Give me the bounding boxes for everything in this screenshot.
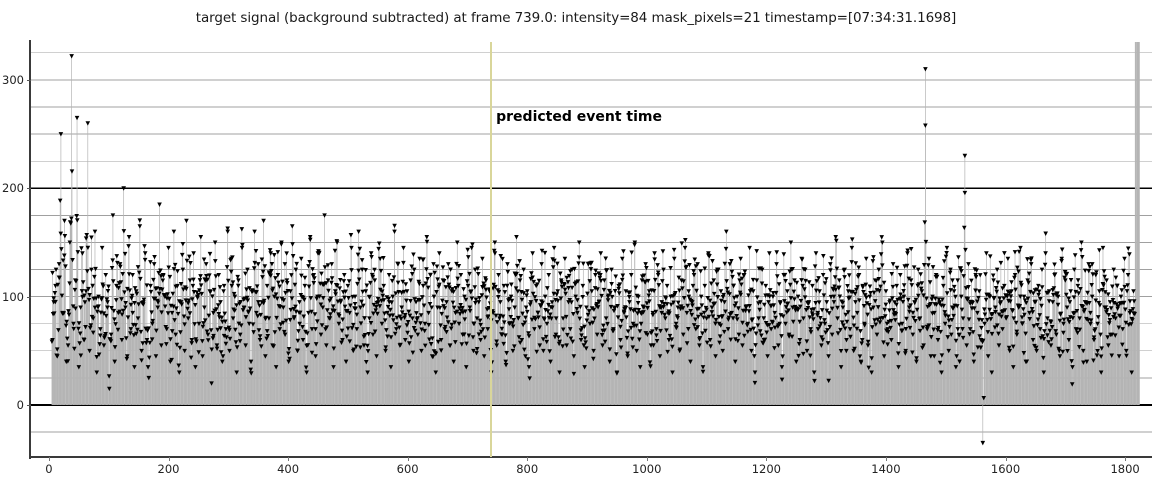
y-tick-label: 300 [2, 73, 24, 87]
x-tick-mark [49, 457, 50, 461]
predicted-event-time-label: predicted event time [496, 109, 662, 125]
x-tick-mark [886, 457, 887, 461]
x-tick-label: 400 [277, 462, 299, 476]
chart-title: target signal (background subtracted) at… [0, 10, 1152, 26]
y-tick-mark [27, 405, 31, 406]
chart-root: target signal (background subtracted) at… [0, 0, 1152, 496]
x-tick-mark [1125, 457, 1126, 461]
x-tick-label: 1600 [991, 462, 1020, 476]
x-tick-label: 0 [45, 462, 52, 476]
x-tick-label: 200 [158, 462, 180, 476]
x-tick-label: 1400 [871, 462, 900, 476]
x-tick-mark [647, 457, 648, 461]
x-tick-label: 800 [516, 462, 538, 476]
x-axis-spine [29, 456, 1152, 458]
predicted-event-time-line [490, 42, 492, 457]
x-tick-mark [169, 457, 170, 461]
x-tick-mark [527, 457, 528, 461]
x-tick-mark [766, 457, 767, 461]
plot-area [31, 42, 1152, 457]
y-tick-mark [27, 80, 31, 81]
x-tick-label: 1200 [752, 462, 781, 476]
x-tick-mark [1006, 457, 1007, 461]
x-tick-mark [408, 457, 409, 461]
data-markers-layer [31, 42, 1152, 457]
y-tick-mark [27, 188, 31, 189]
x-tick-mark [288, 457, 289, 461]
y-tick-mark [27, 297, 31, 298]
x-tick-label: 1000 [632, 462, 661, 476]
y-tick-label: 100 [2, 290, 24, 304]
y-axis-spine [29, 40, 31, 459]
x-tick-label: 600 [397, 462, 419, 476]
y-tick-label: 200 [2, 181, 24, 195]
y-tick-label: 0 [17, 398, 24, 412]
x-tick-label: 1800 [1110, 462, 1139, 476]
